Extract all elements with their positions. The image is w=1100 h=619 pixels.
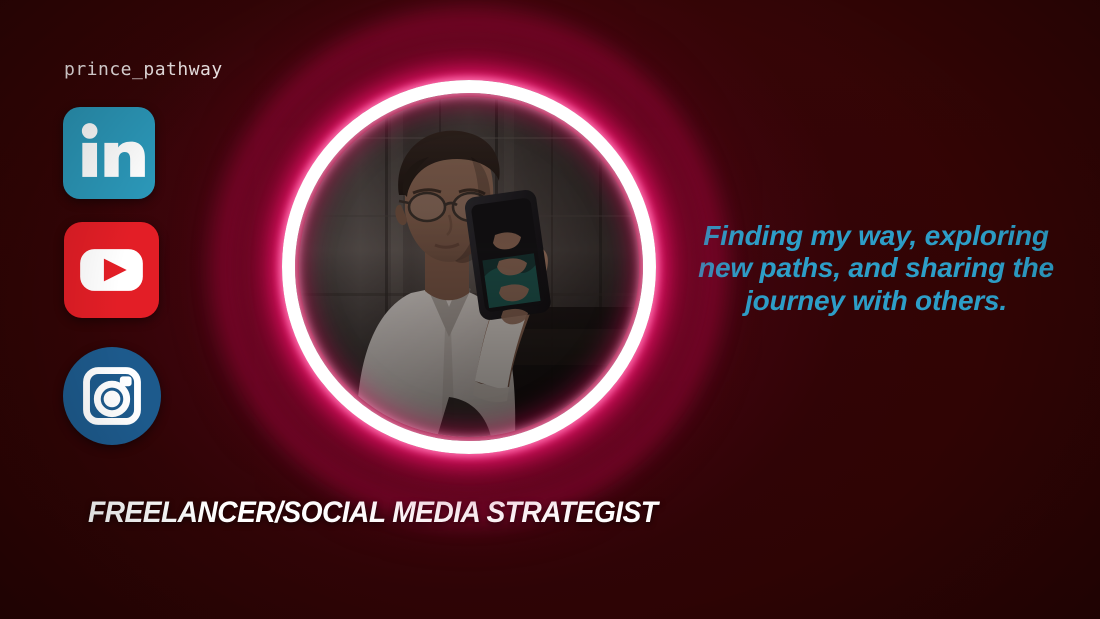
youtube-icon xyxy=(64,222,159,318)
social-link-youtube[interactable] xyxy=(64,222,159,318)
avatar xyxy=(282,80,656,454)
tagline-line-3: journey with others. xyxy=(676,285,1076,317)
linkedin-icon xyxy=(63,107,155,199)
avatar-photo xyxy=(299,97,639,437)
tagline-line-2: new paths, and sharing the xyxy=(676,252,1076,284)
social-link-linkedin[interactable] xyxy=(63,107,155,199)
username-label: prince_pathway xyxy=(64,59,223,80)
tagline: Finding my way, exploring new paths, and… xyxy=(676,220,1076,317)
instagram-icon xyxy=(63,347,161,445)
avatar-photo-image xyxy=(299,97,639,437)
profile-headline: FREELANCER/SOCIAL MEDIA STRATEGIST xyxy=(88,496,657,530)
tagline-line-1: Finding my way, exploring xyxy=(676,220,1076,252)
social-link-instagram[interactable] xyxy=(63,347,161,445)
profile-card: prince_pathway xyxy=(0,0,1100,619)
